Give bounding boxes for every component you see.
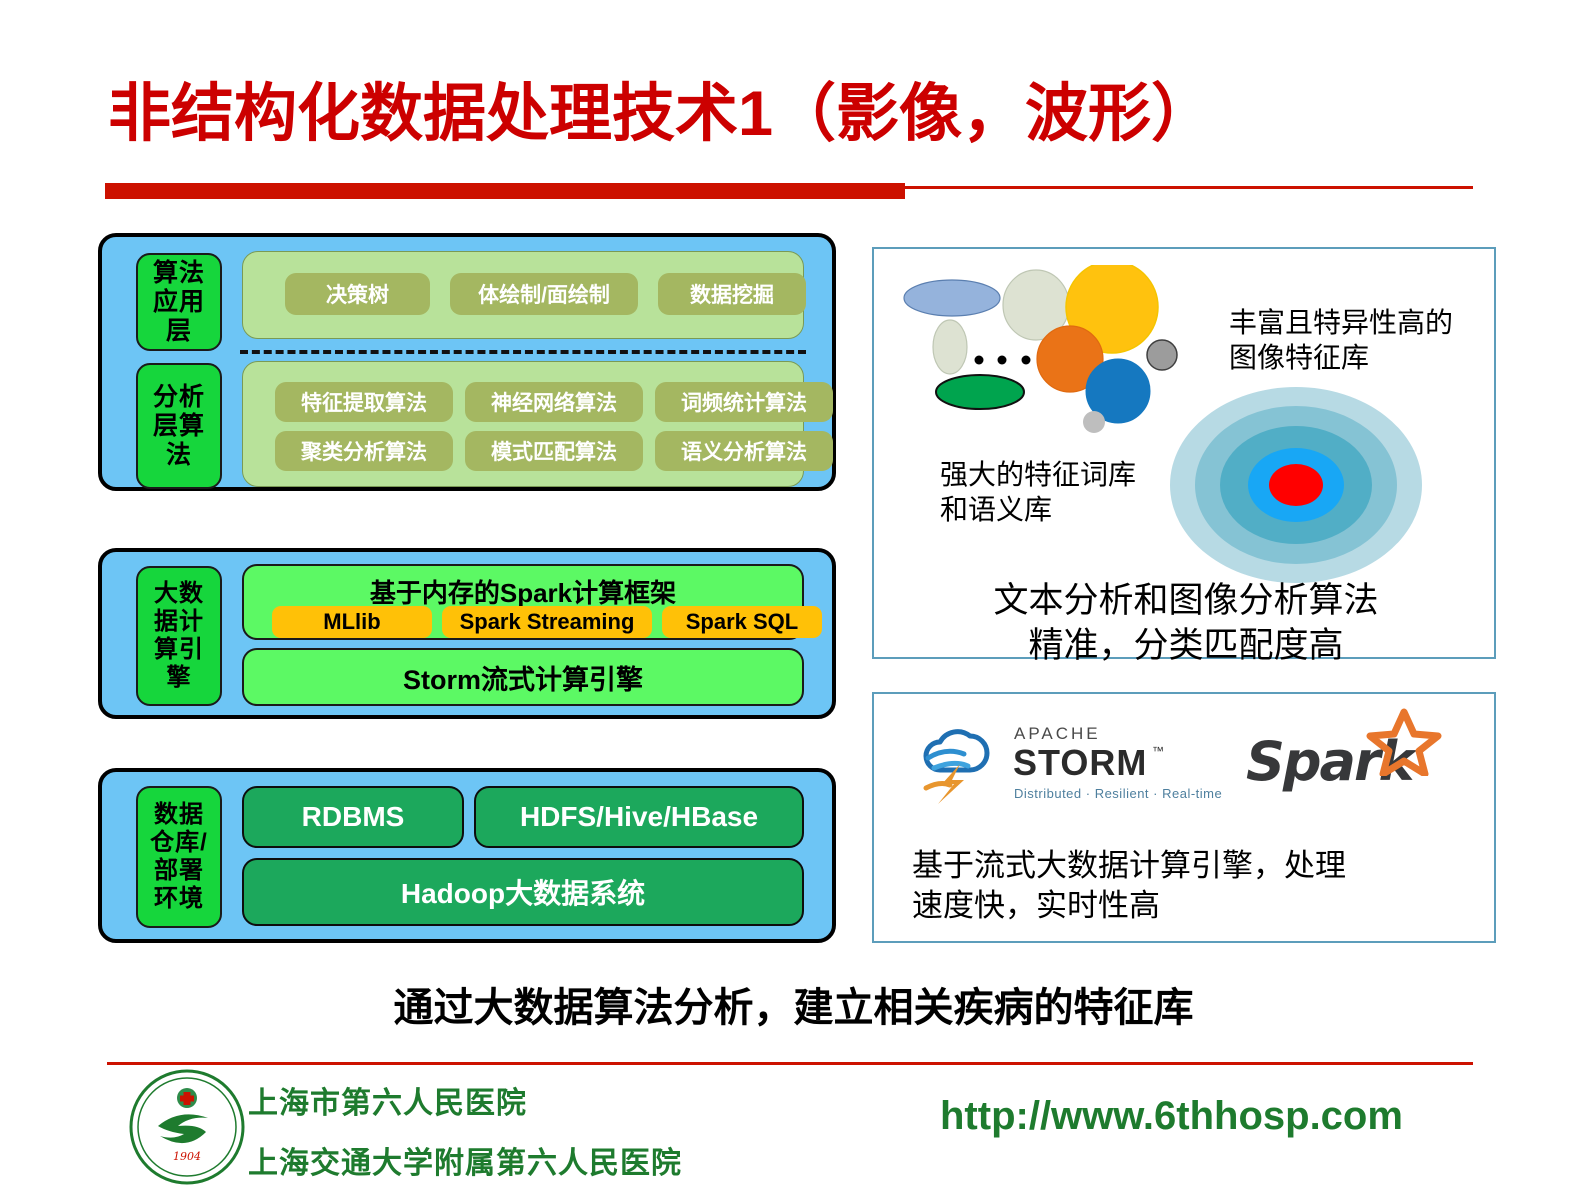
title-underline-thick (105, 183, 905, 199)
layer-label-analysis: 分析 层算 法 (136, 363, 222, 489)
concentric-target-diagram (1170, 387, 1422, 583)
box-hdfs-hive-hbase[interactable]: HDFS/Hive/HBase (474, 786, 804, 848)
chip-volume-surface-rendering[interactable]: 体绘制/面绘制 (450, 273, 638, 315)
footer-divider (107, 1062, 1473, 1065)
note-semantic-library: 强大的特征词库 和语义库 (940, 457, 1136, 527)
note-streaming-engine: 基于流式大数据计算引擎，处理 速度快，实时性高 (912, 846, 1346, 927)
chip-pattern-matching[interactable]: 模式匹配算法 (465, 431, 643, 471)
storm-word: STORM (1013, 742, 1147, 784)
storm-trademark-symbol: ™ (1152, 744, 1164, 758)
chip-decision-tree[interactable]: 决策树 (285, 273, 430, 315)
footer-hospital-name-1: 上海市第六人民医院 (248, 1078, 527, 1122)
bubble-cluster-diagram (890, 265, 1200, 480)
layer-label-application: 算法 应用 层 (136, 253, 222, 351)
apache-storm-logo-icon (912, 720, 1002, 806)
spark-framework-title: 基于内存的Spark计算框架 (244, 573, 802, 610)
chip-spark-streaming[interactable]: Spark Streaming (442, 606, 652, 638)
caption-text-image-analysis: 文本分析和图像分析算法 精准，分类匹配度高 (874, 579, 1498, 669)
storm-apache-word: APACHE (1014, 724, 1101, 744)
chip-clustering-analysis[interactable]: 聚类分析算法 (275, 431, 453, 471)
chip-feature-extraction[interactable]: 特征提取算法 (275, 382, 453, 422)
storm-tagline: Distributed · Resilient · Real-time (1014, 786, 1222, 801)
storage-panel: 数据 仓库/ 部署 环境 RDBMS HDFS/Hive/HBase Hadoo… (98, 768, 836, 943)
layer-label-storage: 数据 仓库/ 部署 环境 (136, 786, 222, 928)
spark-framework-box: 基于内存的Spark计算框架 MLlib Spark Streaming Spa… (242, 564, 804, 640)
storm-engine-box[interactable]: Storm流式计算引擎 (242, 648, 804, 706)
hospital-logo-icon: 1904 (128, 1068, 246, 1186)
page-title: 非结构化数据处理技术1（影像，波形） (108, 78, 1214, 150)
compute-engine-panel: 大数 据计 算引 擎 基于内存的Spark计算框架 MLlib Spark St… (98, 548, 836, 719)
layer-label-compute-engine: 大数 据计 算引 擎 (136, 566, 222, 706)
title-underline-thin (905, 186, 1473, 189)
layer-divider (240, 350, 806, 354)
algorithm-panel: 算法 应用 层 决策树 体绘制/面绘制 数据挖掘 分析 层算 法 特征提取算法 … (98, 233, 836, 491)
application-layer-area: 决策树 体绘制/面绘制 数据挖掘 (242, 251, 804, 339)
footer-hospital-name-2: 上海交通大学附属第六人民医院 (248, 1138, 682, 1182)
spark-star-icon (1366, 706, 1442, 776)
chip-spark-sql[interactable]: Spark SQL (662, 606, 822, 638)
box-rdbms[interactable]: RDBMS (242, 786, 464, 848)
footer-website-url[interactable]: http://www.6thhosp.com (940, 1094, 1403, 1139)
chip-data-mining[interactable]: 数据挖掘 (658, 273, 806, 315)
note-image-feature-library: 丰富且特异性高的 图像特征库 (1229, 305, 1453, 375)
chip-word-frequency[interactable]: 词频统计算法 (655, 382, 833, 422)
slide-summary-caption: 通过大数据算法分析，建立相关疾病的特征库 (0, 975, 1587, 1033)
logos-panel: APACHE STORM ™ Distributed · Resilient ·… (872, 692, 1496, 943)
chip-mllib[interactable]: MLlib (272, 606, 432, 638)
chip-neural-network[interactable]: 神经网络算法 (465, 382, 643, 422)
analysis-layer-area: 特征提取算法 神经网络算法 词频统计算法 聚类分析算法 模式匹配算法 语义分析算… (242, 361, 804, 487)
features-illustration-panel: 丰富且特异性高的 图像特征库 强大的特征词库 和语义库 文本分析和图像分析算法 … (872, 247, 1496, 659)
hospital-logo-year: 1904 (173, 1150, 201, 1163)
chip-semantic-analysis[interactable]: 语义分析算法 (655, 431, 833, 471)
box-hadoop-system[interactable]: Hadoop大数据系统 (242, 858, 804, 926)
